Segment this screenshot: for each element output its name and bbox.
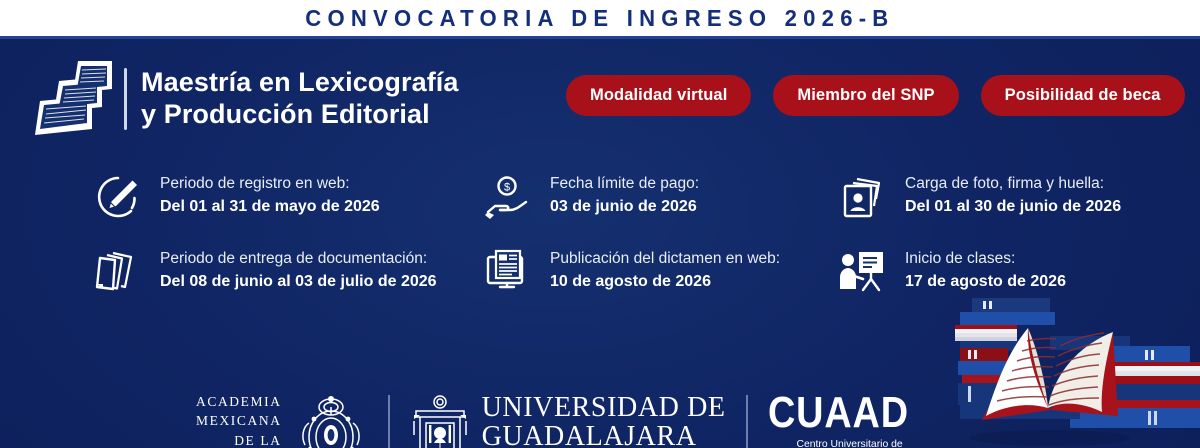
cuaad-word: CUAAD [768, 392, 909, 434]
udg-crest-icon [410, 393, 470, 448]
brand-text: Maestría en Lexicografía y Producción Ed… [141, 67, 459, 131]
info-item-documentacion: Periodo de entrega de documentación: Del… [92, 246, 482, 297]
info-text: Periodo de registro en web: Del 01 al 31… [160, 171, 380, 217]
header-banner: CONVOCATORIA DE INGRESO 2026-B [0, 0, 1200, 36]
info-item-dictamen: Publicación del dictamen en web: 10 de a… [482, 246, 837, 297]
info-label: Publicación del dictamen en web: [550, 249, 780, 270]
main-stage: Maestría en Lexicografía y Producción Ed… [0, 39, 1200, 448]
photo-id-icon [837, 172, 889, 222]
badge-group: Modalidad virtual Miembro del SNP Posibi… [566, 75, 1185, 116]
info-value: 03 de junio de 2026 [550, 196, 699, 217]
academia-line-2: MEXICANA [196, 411, 282, 431]
info-item-carga-foto: Carga de foto, firma y huella: Del 01 al… [837, 171, 1167, 222]
page-title: CONVOCATORIA DE INGRESO 2026-B [305, 5, 894, 32]
stacked-books-logo-icon [32, 59, 118, 139]
brand-line-2: y Producción Editorial [141, 99, 459, 131]
logo-universidad-guadalajara: UNIVERSIDAD DE GUADALAJARA Red Universit… [410, 391, 726, 448]
badge-modalidad-virtual[interactable]: Modalidad virtual [566, 75, 751, 116]
udg-wordmark: UNIVERSIDAD DE GUADALAJARA Red Universit… [482, 394, 726, 448]
info-label: Inicio de clases: [905, 249, 1066, 270]
logo-academia-mexicana: ACADEMIA MEXICANA DE LA LENGUA [196, 391, 368, 448]
brand-line-1: Maestría en Lexicografía [141, 67, 459, 99]
info-text: Periodo de entrega de documentación: Del… [160, 246, 437, 292]
info-text: Publicación del dictamen en web: 10 de a… [550, 246, 780, 292]
info-text: Carga de foto, firma y huella: Del 01 al… [905, 171, 1121, 217]
footer-logos: ACADEMIA MEXICANA DE LA LENGUA [196, 391, 932, 448]
footer-divider-2 [746, 395, 748, 448]
info-value: Del 01 al 30 de junio de 2026 [905, 196, 1121, 217]
badge-miembro-snp[interactable]: Miembro del SNP [773, 75, 958, 116]
info-item-inicio-clases: Inicio de clases: 17 de agosto de 2026 [837, 246, 1167, 297]
program-brand: Maestría en Lexicografía y Producción Ed… [32, 59, 459, 139]
udg-line-1: UNIVERSIDAD DE [482, 394, 726, 423]
info-label: Carga de foto, firma y huella: [905, 174, 1121, 195]
academia-line-3: DE LA [196, 431, 282, 448]
info-label: Periodo de registro en web: [160, 174, 380, 195]
info-item-pago: $ Fecha límite de pago: 03 de junio de 2… [482, 171, 837, 222]
badge-posibilidad-beca[interactable]: Posibilidad de beca [981, 75, 1185, 116]
pencil-signature-icon [92, 172, 144, 222]
documents-stack-icon [92, 247, 144, 297]
info-label: Periodo de entrega de documentación: [160, 249, 437, 270]
info-value: 17 de agosto de 2026 [905, 271, 1066, 292]
brand-divider [124, 68, 127, 130]
svg-text:$: $ [504, 182, 510, 194]
info-value: Del 01 al 31 de mayo de 2026 [160, 196, 380, 217]
convocatoria-poster: CONVOCATORIA DE INGRESO 2026-B [0, 0, 1200, 448]
monitor-document-icon [482, 247, 534, 297]
academia-line-1: ACADEMIA [196, 392, 282, 412]
money-hand-icon: $ [482, 172, 534, 222]
academia-mexicana-crest-icon [294, 393, 368, 448]
udg-line-2: GUADALAJARA [482, 423, 726, 448]
open-book-on-stack-illustration [900, 298, 1200, 448]
footer-divider-1 [388, 395, 390, 448]
academia-wordmark: ACADEMIA MEXICANA DE LA LENGUA [196, 392, 282, 448]
teacher-board-icon [837, 247, 889, 297]
info-item-registro: Periodo de registro en web: Del 01 al 31… [92, 171, 482, 222]
info-value: 10 de agosto de 2026 [550, 271, 780, 292]
info-value: Del 08 de junio al 03 de julio de 2026 [160, 271, 437, 292]
info-text: Inicio de clases: 17 de agosto de 2026 [905, 246, 1066, 292]
info-label: Fecha límite de pago: [550, 174, 699, 195]
info-text: Fecha límite de pago: 03 de junio de 202… [550, 171, 699, 217]
